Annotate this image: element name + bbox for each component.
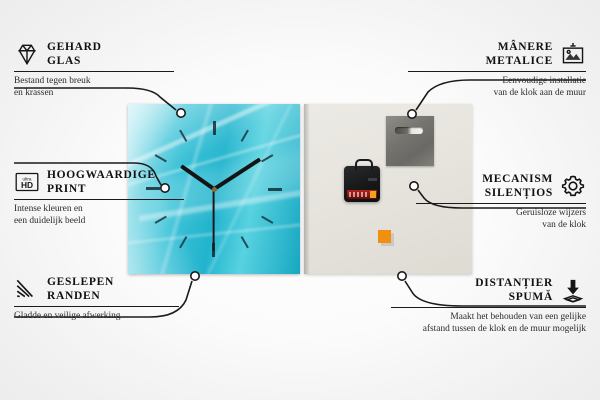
- callout-description: Intense kleuren en een duidelijk beeld: [14, 203, 184, 228]
- ultra-hd-icon: ultra HD: [14, 169, 40, 195]
- callout-divider: [391, 307, 586, 308]
- mechanism-detail: [368, 178, 377, 181]
- callout-header: MÂNERE METALICE: [408, 40, 586, 68]
- callout-gehard-glas: GEHARD GLAS Bestand tegen breuk en krass…: [14, 40, 174, 100]
- callout-distantier-spuma: DISTANȚIER SPUMĂ Maakt het behouden van …: [391, 276, 586, 336]
- battery: [347, 190, 377, 199]
- callout-manere-metalice: MÂNERE METALICE Eenvoudige installatie v…: [408, 40, 586, 100]
- callout-title: MECANISM SILENȚIOS: [482, 172, 553, 200]
- callout-header: GEHARD GLAS: [14, 40, 174, 68]
- callout-title: MÂNERE METALICE: [486, 40, 553, 68]
- callout-hoogwaardige-print: ultra HD HOOGWAARDIGE PRINT Intense kleu…: [14, 168, 184, 228]
- callout-title: DISTANȚIER SPUMĂ: [475, 276, 553, 304]
- callout-geslepen-randen: GESLEPEN RANDEN Gladde en veilige afwerk…: [14, 275, 179, 322]
- callout-description: Gladde en veilige afwerking: [14, 310, 179, 322]
- callout-title: HOOGWAARDIGE PRINT: [47, 168, 156, 196]
- callout-description: Eenvoudige installatie van de klok aan d…: [408, 75, 586, 100]
- callout-header: DISTANȚIER SPUMĂ: [391, 276, 586, 304]
- callout-divider: [416, 203, 586, 204]
- clock-hub: [212, 187, 217, 192]
- diagonal-lines-icon: [14, 276, 40, 302]
- battery-plus-terminal: [370, 191, 376, 198]
- callout-header: MECANISM SILENȚIOS: [416, 172, 586, 200]
- callout-header: ultra HD HOOGWAARDIGE PRINT: [14, 168, 184, 196]
- callout-divider: [14, 199, 184, 200]
- down-arrow-stack-icon: [560, 277, 586, 303]
- callout-description: Maakt het behouden van een gelijke afsta…: [391, 311, 586, 336]
- diamond-icon: [14, 41, 40, 67]
- callout-divider: [14, 306, 179, 307]
- hanger-slot: [395, 127, 423, 134]
- quartz-mechanism: [344, 166, 380, 202]
- callout-description: Bestand tegen breuk en krassen: [14, 75, 174, 100]
- svg-text:HD: HD: [21, 180, 33, 190]
- clock-second-hand: [213, 189, 215, 251]
- callout-title: GESLEPEN RANDEN: [47, 275, 114, 303]
- battery-label: [349, 192, 369, 197]
- callout-title: GEHARD GLAS: [47, 40, 102, 68]
- callout-mecanism-silentios: MECANISM SILENȚIOS Geruisloze wijzers va…: [416, 172, 586, 232]
- callout-description: Geruisloze wijzers van de klok: [416, 207, 586, 232]
- callout-divider: [14, 71, 174, 72]
- foam-spacer: [378, 230, 391, 243]
- callout-header: GESLEPEN RANDEN: [14, 275, 179, 303]
- callout-divider: [408, 71, 586, 72]
- infographic-canvas: GEHARD GLAS Bestand tegen breuk en krass…: [0, 0, 600, 400]
- mechanism-hook: [355, 159, 373, 171]
- gear-icon: [560, 173, 586, 199]
- picture-frame-icon: [560, 41, 586, 67]
- metal-hanger-plate: [386, 116, 434, 166]
- clock-hour-hand: [180, 164, 215, 190]
